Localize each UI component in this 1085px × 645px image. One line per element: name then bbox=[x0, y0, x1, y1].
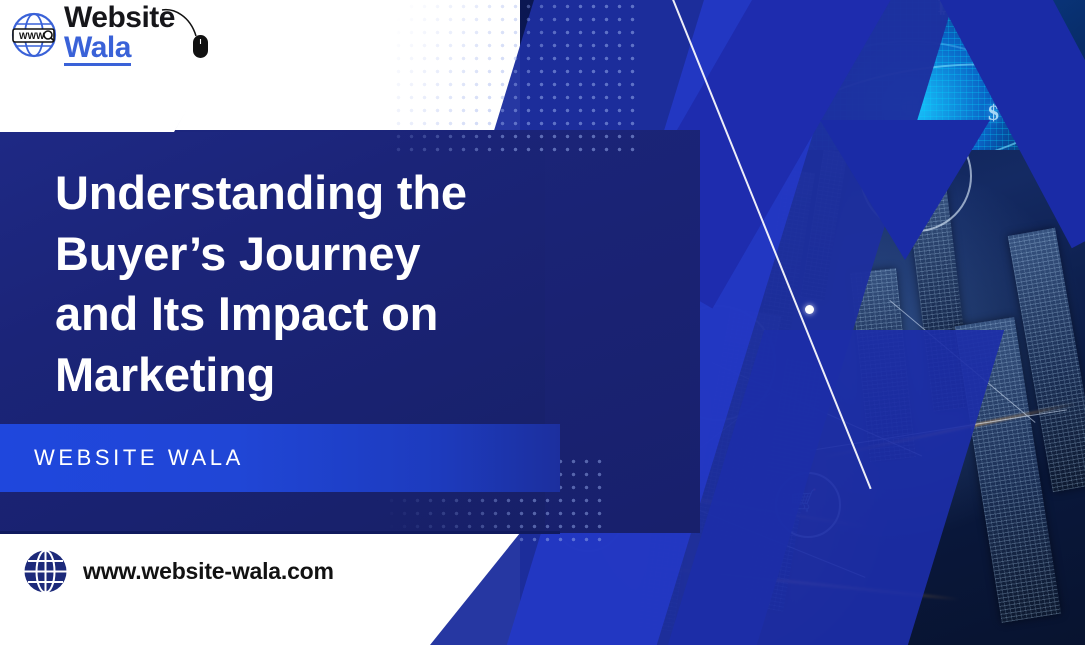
headline-line-4: Marketing bbox=[55, 345, 575, 406]
svg-text:WWW: WWW bbox=[19, 31, 45, 41]
page-title: Understanding the Buyer’s Journey and It… bbox=[55, 163, 575, 406]
blog-banner: ¥ $ £ ₿ £ $ € $ ¥ € bbox=[0, 0, 1085, 645]
globe-search-icon: WWW bbox=[8, 9, 60, 61]
headline-line-3: and Its Impact on bbox=[55, 284, 575, 345]
globe-solid-icon bbox=[22, 548, 69, 595]
logo-wordmark: Website Wala bbox=[64, 4, 175, 66]
logo-word-wala: Wala bbox=[64, 33, 131, 66]
site-logo[interactable]: WWW Website Wala bbox=[8, 4, 258, 66]
headline-line-2: Buyer’s Journey bbox=[55, 224, 575, 285]
brand-subtitle: WEBSITE WALA bbox=[34, 445, 244, 471]
footer-content: www.website-wala.com bbox=[22, 548, 334, 595]
headline-line-1: Understanding the bbox=[55, 163, 575, 224]
footer-website-url[interactable]: www.website-wala.com bbox=[83, 558, 334, 585]
logo-word-website: Website bbox=[64, 4, 175, 33]
white-accent-dot bbox=[805, 305, 814, 314]
footer-divider bbox=[0, 531, 560, 534]
mouse-cable-icon bbox=[160, 6, 204, 40]
